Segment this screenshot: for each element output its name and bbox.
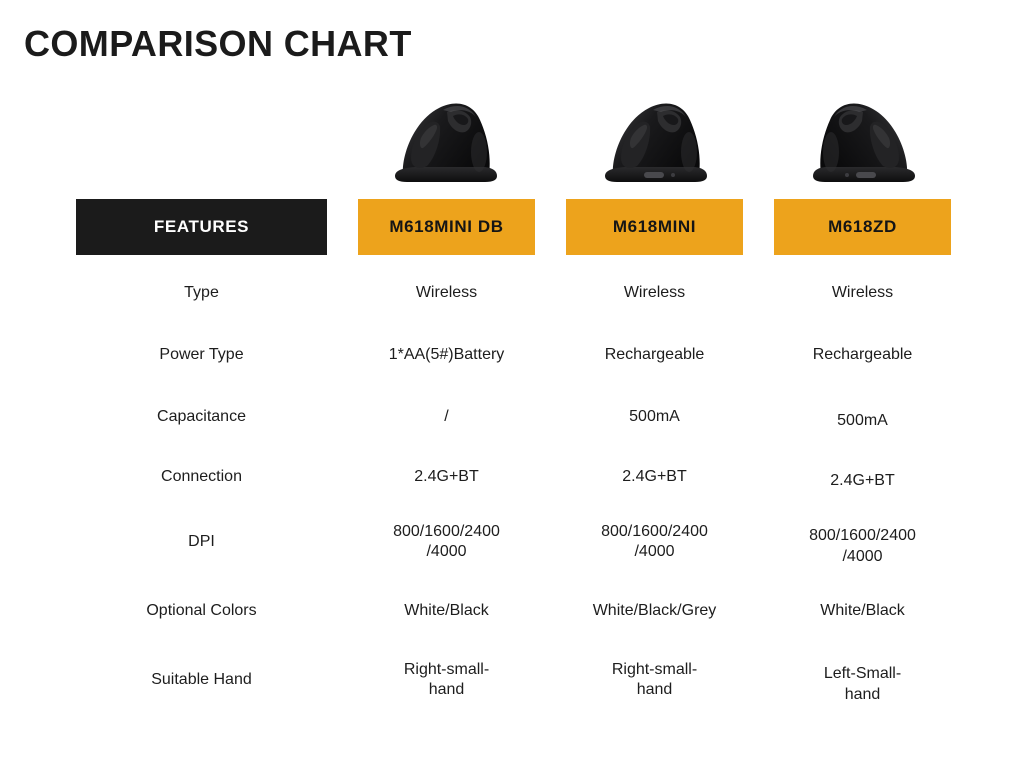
header-features: FEATURES bbox=[76, 199, 327, 255]
header-column-m618mini[interactable]: M618MINI bbox=[566, 199, 743, 255]
row-label-optional-colors: Optional Colors bbox=[76, 601, 327, 621]
vertical-mouse-icon bbox=[381, 96, 509, 188]
cell-dpi-m618mini-db: 800/1600/2400/4000 bbox=[358, 522, 535, 563]
cell-suitable-hand-m618mini: Right-small-hand bbox=[566, 660, 743, 701]
row-label-capacitance: Capacitance bbox=[76, 407, 327, 427]
table-row: Type Wireless Wireless Wireless bbox=[76, 262, 952, 324]
table-row: DPI 800/1600/2400/4000 800/1600/2400/400… bbox=[76, 506, 952, 578]
page-title: COMPARISON CHART bbox=[24, 23, 412, 65]
row-label-suitable-hand: Suitable Hand bbox=[76, 670, 327, 690]
table-row: Optional Colors White/Black White/Black/… bbox=[76, 578, 952, 644]
row-label-power-type: Power Type bbox=[76, 345, 327, 365]
cell-dpi-m618zd: 800/1600/2400/4000 bbox=[774, 517, 951, 567]
cell-connection-m618mini-db: 2.4G+BT bbox=[358, 467, 535, 487]
vertical-mouse-icon bbox=[801, 96, 929, 188]
cell-power-type-m618mini: Rechargeable bbox=[566, 345, 743, 365]
table-row: Suitable Hand Right-small-hand Right-sma… bbox=[76, 644, 952, 716]
row-label-type: Type bbox=[76, 283, 327, 303]
table-body: Type Wireless Wireless Wireless Power Ty… bbox=[76, 262, 952, 716]
cell-type-m618zd: Wireless bbox=[774, 283, 951, 303]
table-row: Capacitance / 500mA 500mA bbox=[76, 386, 952, 448]
usb-c-port-icon bbox=[644, 172, 664, 178]
cell-power-type-m618zd: Rechargeable bbox=[774, 345, 951, 365]
row-label-connection: Connection bbox=[76, 467, 327, 487]
header-column-m618mini-db[interactable]: M618MINI DB bbox=[358, 199, 535, 255]
product-image-m618zd bbox=[760, 80, 970, 188]
cell-type-m618mini-db: Wireless bbox=[358, 283, 535, 303]
cell-power-type-m618mini-db: 1*AA(5#)Battery bbox=[358, 345, 535, 365]
header-spacer bbox=[327, 199, 358, 255]
header-spacer bbox=[535, 199, 566, 255]
cell-suitable-hand-m618zd: Left-Small-hand bbox=[774, 655, 951, 705]
header-spacer bbox=[743, 199, 774, 255]
cell-connection-m618zd: 2.4G+BT bbox=[774, 462, 951, 491]
cell-optional-colors-m618mini: White/Black/Grey bbox=[566, 601, 743, 621]
cell-capacitance-m618zd: 500mA bbox=[774, 402, 951, 431]
table-header-row: FEATURES M618MINI DB M618MINI M618ZD bbox=[76, 199, 952, 255]
usb-c-port-icon bbox=[856, 172, 876, 178]
cell-type-m618mini: Wireless bbox=[566, 283, 743, 303]
cell-capacitance-m618mini: 500mA bbox=[566, 407, 743, 427]
vertical-mouse-icon bbox=[591, 96, 719, 188]
table-row: Connection 2.4G+BT 2.4G+BT 2.4G+BT bbox=[76, 448, 952, 506]
comparison-chart-page: COMPARISON CHART bbox=[0, 0, 1024, 768]
product-image-m618mini bbox=[550, 80, 760, 188]
cell-optional-colors-m618mini-db: White/Black bbox=[358, 601, 535, 621]
cell-connection-m618mini: 2.4G+BT bbox=[566, 467, 743, 487]
cell-optional-colors-m618zd: White/Black bbox=[774, 601, 951, 621]
row-label-dpi: DPI bbox=[76, 532, 327, 552]
cell-capacitance-m618mini-db: / bbox=[358, 407, 535, 427]
product-image-m618mini-db bbox=[340, 80, 550, 188]
table-row: Power Type 1*AA(5#)Battery Rechargeable … bbox=[76, 324, 952, 386]
product-image-strip bbox=[340, 80, 970, 188]
header-column-m618zd[interactable]: M618ZD bbox=[774, 199, 951, 255]
cell-dpi-m618mini: 800/1600/2400/4000 bbox=[566, 522, 743, 563]
cell-suitable-hand-m618mini-db: Right-small-hand bbox=[358, 660, 535, 701]
